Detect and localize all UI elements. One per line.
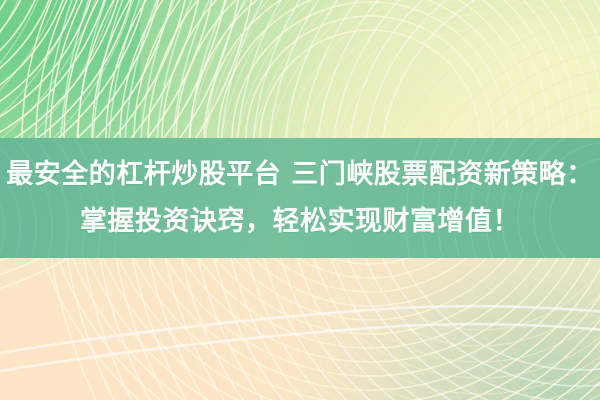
headline-band: 最安全的杠杆炒股平台 三门峡股票配资新策略： 掌握投资诀窍，轻松实现财富增值！ (0, 138, 600, 258)
banner-image: 最安全的杠杆炒股平台 三门峡股票配资新策略： 掌握投资诀窍，轻松实现财富增值！ (0, 0, 600, 400)
headline-line-2: 掌握投资诀窍，轻松实现财富增值！ (80, 199, 520, 245)
headline-line-1: 最安全的杠杆炒股平台 三门峡股票配资新策略： (6, 152, 593, 198)
